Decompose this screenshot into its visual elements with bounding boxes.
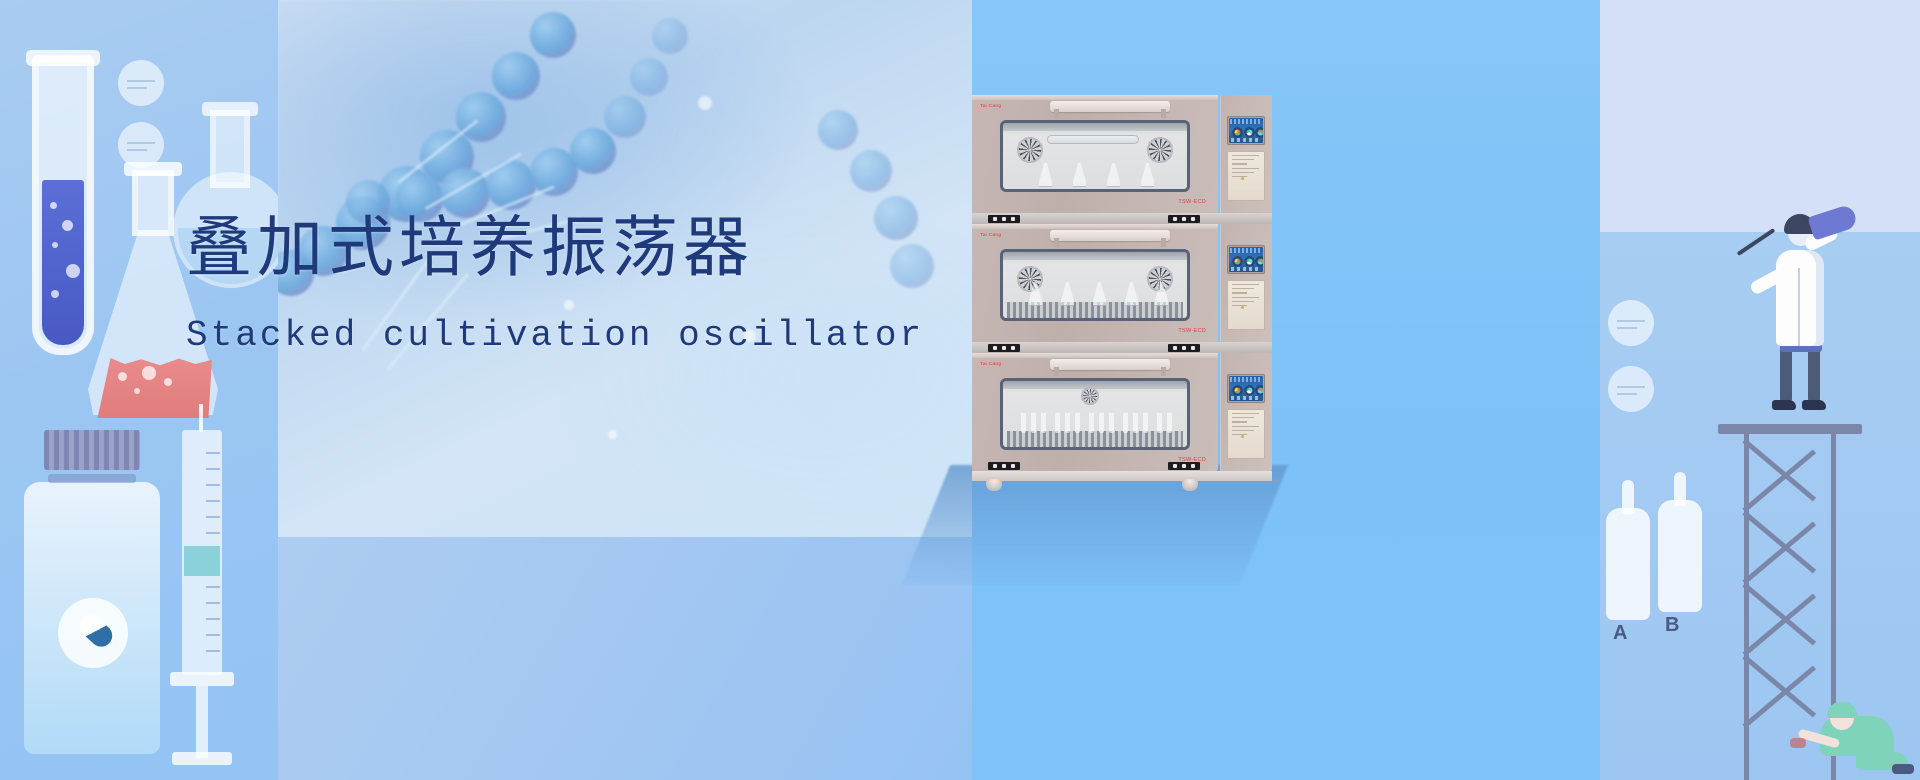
bubble — [51, 290, 59, 298]
bubble — [62, 220, 73, 231]
syringe-tick — [206, 586, 220, 588]
surgeon-figure — [1796, 700, 1914, 780]
flask-icon — [1073, 163, 1086, 187]
bubble — [66, 264, 80, 278]
bottle-cap — [44, 430, 140, 470]
device-shadow — [902, 465, 1288, 585]
syringe-needle — [199, 404, 203, 432]
syringe-tick — [206, 484, 220, 486]
test-tube-lip — [26, 50, 100, 66]
syringe-tick — [206, 650, 220, 652]
shoe — [1802, 400, 1826, 410]
syringe-tick — [206, 516, 220, 518]
unit-body: Tai Cang TSW-ECD — [972, 353, 1218, 471]
scientist-figure — [1750, 196, 1860, 428]
syringe-tick — [206, 618, 220, 620]
model-code: TSW-ECD — [1178, 199, 1206, 205]
ampoule-label: B — [1665, 614, 1679, 637]
label-card — [1227, 151, 1265, 201]
shoe — [1892, 764, 1914, 774]
switch-panel[interactable] — [1168, 344, 1200, 352]
caster-foot — [986, 479, 1002, 491]
brand-logo: Tai Cang — [980, 103, 1001, 108]
flask-icon — [1061, 282, 1074, 306]
test-tube-rack — [1007, 431, 1183, 447]
switch-panel[interactable] — [988, 462, 1020, 470]
syringe-thumb-rest — [172, 752, 232, 765]
pill-bottle-icon — [22, 430, 162, 760]
timer-gauge-icon — [1255, 385, 1263, 396]
lcd-button-row[interactable] — [1231, 267, 1261, 271]
flask-icon — [1039, 163, 1052, 187]
ampoule-label: A — [1613, 622, 1627, 645]
door-handle[interactable] — [1050, 101, 1170, 112]
lcd-button-row[interactable] — [1231, 138, 1261, 142]
syringe-icon — [174, 400, 228, 750]
flask-icon — [1093, 282, 1106, 306]
label-card — [1227, 280, 1265, 330]
fan-icon — [1081, 387, 1099, 405]
shaker-unit-bottom[interactable]: Tai Cang TSW-ECD — [972, 353, 1272, 471]
switch-panel[interactable] — [988, 344, 1020, 352]
glassware-group — [0, 0, 278, 780]
unit-body: Tai Cang TSW-ECD — [972, 224, 1218, 342]
model-code: TSW-ECD — [1178, 328, 1206, 334]
surgical-cap-icon — [1827, 702, 1857, 718]
syringe-tick — [206, 602, 220, 604]
switch-panel[interactable] — [1168, 462, 1200, 470]
speed-gauge-icon — [1244, 256, 1255, 267]
ampoule-body — [1606, 508, 1650, 620]
lcd-screen[interactable] — [1229, 118, 1263, 143]
unit-top-edge — [972, 95, 1218, 100]
lab-coat — [1776, 250, 1824, 346]
bubble — [52, 242, 58, 248]
shaker-unit-middle[interactable]: Tai Cang TSW-ECD — [972, 224, 1272, 342]
viewing-window — [1000, 249, 1190, 321]
door-handle[interactable] — [1050, 230, 1170, 241]
window-top-rail — [1003, 252, 1187, 260]
door-handle[interactable] — [1050, 359, 1170, 370]
lcd-bezel — [1227, 374, 1265, 403]
fan-icon — [1147, 137, 1173, 163]
syringe-tick — [206, 634, 220, 636]
lcd-bezel — [1227, 245, 1265, 274]
leg — [1780, 344, 1792, 402]
flask-neck — [132, 170, 174, 236]
lcd-button-row[interactable] — [1231, 396, 1261, 400]
syringe-flange — [170, 672, 234, 686]
leg — [1808, 344, 1820, 402]
stacked-incubator-shaker[interactable]: Tai Cang TSW-ECD — [972, 95, 1272, 480]
switch-panel[interactable] — [1168, 215, 1200, 223]
syringe-plunger — [196, 686, 208, 758]
brand-logo: Tai Cang — [980, 361, 1001, 366]
lcd-screen[interactable] — [1229, 376, 1263, 401]
right-illustration-panel: A B — [1600, 0, 1920, 780]
temperature-gauge-icon — [1232, 385, 1243, 396]
shoe — [1772, 400, 1796, 410]
bottle-ring — [48, 474, 136, 483]
timer-gauge-icon — [1255, 256, 1263, 267]
unit-top-edge — [972, 224, 1218, 229]
round-label-icon — [1608, 300, 1654, 346]
product-banner: Tai Cang TSW-ECD — [0, 0, 1920, 780]
unit-body: Tai Cang TSW-ECD — [972, 95, 1218, 213]
brand-logo: Tai Cang — [980, 232, 1001, 237]
coat-seam — [1798, 268, 1800, 346]
bubble — [164, 378, 172, 386]
bubble — [134, 388, 140, 394]
timer-gauge-icon — [1255, 127, 1263, 138]
ampoule-body — [1658, 500, 1702, 612]
page-title: 叠加式培养振荡器 — [186, 214, 924, 283]
control-panel[interactable] — [1220, 95, 1272, 213]
unit-divider — [972, 342, 1272, 353]
caster-foot — [1182, 479, 1198, 491]
flask-icon — [1141, 163, 1154, 187]
instrument-icon — [1790, 738, 1806, 748]
device-panel: Tai Cang TSW-ECD — [972, 0, 1600, 780]
speed-gauge-icon — [1244, 385, 1255, 396]
window-top-rail — [1003, 123, 1187, 131]
speed-gauge-icon — [1244, 127, 1255, 138]
syringe-tick — [206, 452, 220, 454]
bubble — [118, 372, 127, 381]
control-panel[interactable] — [1220, 353, 1272, 471]
lcd-status-bar — [1230, 377, 1262, 382]
unit-divider — [972, 213, 1272, 224]
round-label-icon — [118, 60, 164, 106]
banner-text: 叠加式培养振荡器 Stacked cultivation oscillator — [186, 214, 924, 356]
interior-light-bar — [1047, 135, 1139, 144]
page-subtitle: Stacked cultivation oscillator — [186, 315, 924, 356]
syringe-liquid — [184, 546, 220, 576]
test-tube-liquid — [42, 180, 84, 345]
round-label-icon — [1608, 366, 1654, 412]
fan-icon — [1017, 266, 1043, 292]
lcd-bezel — [1227, 116, 1265, 145]
temperature-gauge-icon — [1232, 256, 1243, 267]
device-base — [972, 471, 1272, 481]
viewing-window — [1000, 378, 1190, 450]
lcd-status-bar — [1230, 119, 1262, 124]
label-card — [1227, 409, 1265, 459]
bubble — [50, 202, 57, 209]
flask-icon — [1125, 282, 1138, 306]
viewing-window — [1000, 120, 1190, 192]
unit-top-edge — [972, 353, 1218, 358]
syringe-tick — [206, 532, 220, 534]
shaker-unit-top[interactable]: Tai Cang TSW-ECD — [972, 95, 1272, 213]
control-panel[interactable] — [1220, 224, 1272, 342]
fan-icon — [1017, 137, 1043, 163]
syringe-tick — [206, 500, 220, 502]
switch-panel[interactable] — [988, 215, 1020, 223]
flask-icon — [1107, 163, 1120, 187]
temperature-gauge-icon — [1232, 127, 1243, 138]
syringe-tick — [206, 468, 220, 470]
left-illustration-panel — [0, 0, 278, 780]
lcd-status-bar — [1230, 248, 1262, 253]
lcd-screen[interactable] — [1229, 247, 1263, 272]
bubble — [142, 366, 156, 380]
